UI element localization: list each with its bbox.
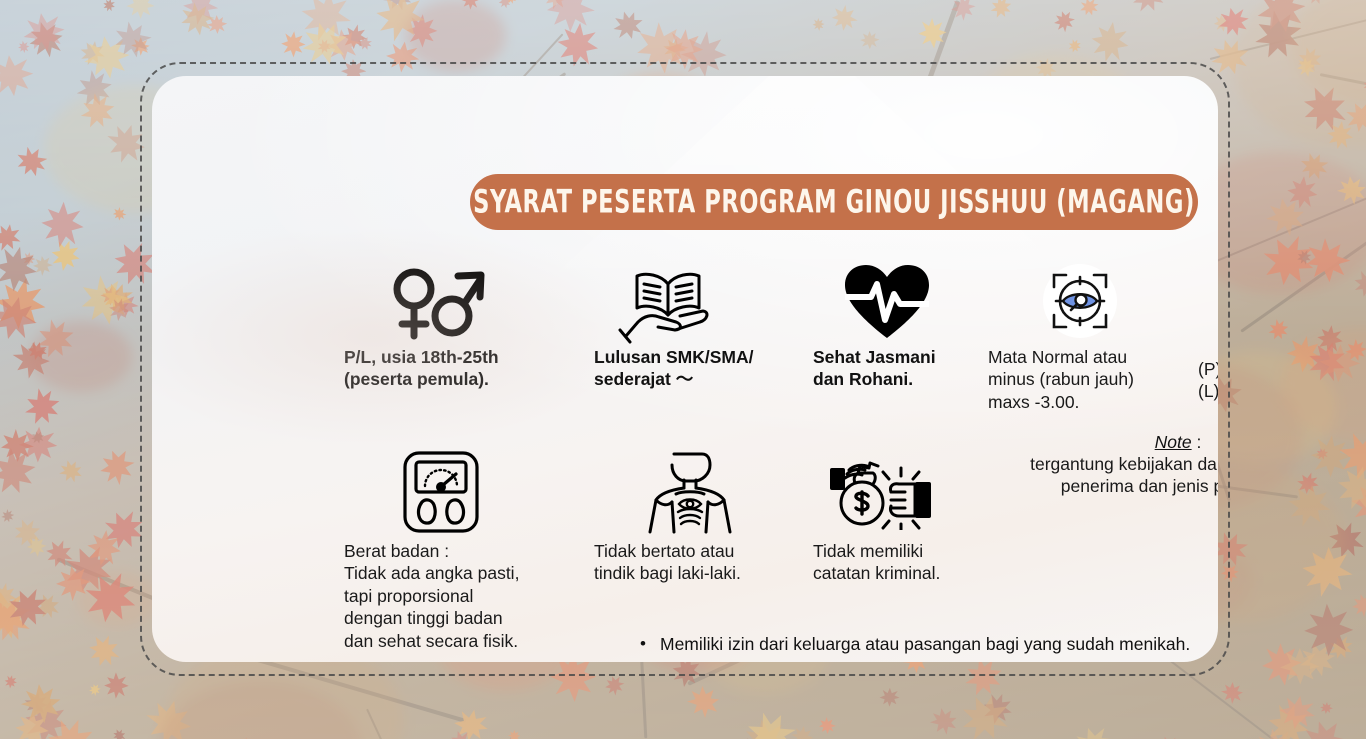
note-separator: :	[1192, 432, 1202, 452]
list-item: • Motivasi & kesiapan: Memiliki kemauan …	[638, 659, 1218, 662]
requirement-gender-line-2: (peserta pemula).	[344, 368, 574, 390]
requirement-criminal-line-2: catatan kriminal.	[813, 562, 1003, 584]
note-line-2: penerima dan jenis pekerjaan.	[987, 475, 1218, 497]
requirement-tattoo: Tidak bertato atau tindik bagi laki-laki…	[594, 450, 809, 585]
requirement-height-text: (P) 155cm〜 (L) 160cm 〜	[1198, 358, 1218, 403]
book-in-hand-icon	[594, 264, 809, 346]
requirement-eyesight: Mata Normal atau minus (rabun jauh) maxs…	[988, 264, 1183, 413]
requirement-weight-line-5: dan sehat secara fisik.	[344, 630, 569, 652]
requirement-tattoo-line-1: Tidak bertato atau	[594, 540, 809, 562]
eye-focus-icon	[1043, 264, 1117, 338]
note-block: Note : tergantung kebijakan dari Perusah…	[987, 432, 1218, 498]
requirement-height-line-2: (L) 160cm 〜	[1198, 380, 1218, 402]
requirement-education: Lulusan SMK/SMA/ sederajat 〜	[594, 264, 809, 391]
requirement-weight-line-2: Tidak ada angka pasti,	[344, 562, 569, 584]
list-item: • Memiliki izin dari keluarga atau pasan…	[638, 632, 1218, 657]
note-label: Note	[1155, 432, 1192, 452]
requirement-eyesight-line-3: maxs -3.00.	[988, 391, 1183, 413]
bullet-text-2: Motivasi & kesiapan: Memiliki kemauan be…	[660, 659, 1218, 662]
requirement-criminal-record: Tidak memiliki catatan kriminal.	[813, 450, 1003, 585]
requirement-health-line-1: Sehat Jasmani	[813, 346, 988, 368]
title-banner: SYARAT PESERTA PROGRAM GINOU JISSHUU (MA…	[470, 174, 1198, 230]
requirement-tattoo-line-2: tindik bagi laki-laki.	[594, 562, 809, 584]
requirement-weight-line-1: Berat badan :	[344, 540, 569, 562]
gender-symbols-icon	[344, 264, 574, 346]
money-bag-fist-icon	[813, 450, 1003, 540]
requirement-eyesight-line-2: minus (rabun jauh)	[988, 368, 1183, 390]
requirement-education-line-1: Lulusan SMK/SMA/	[594, 346, 809, 368]
additional-requirements-list: • Memiliki izin dari keluarga atau pasan…	[638, 632, 1218, 662]
heart-pulse-icon	[813, 264, 988, 346]
requirement-gender-line-1: P/L, usia 18th-25th	[344, 346, 574, 368]
requirement-height-line-1: (P) 155cm〜	[1198, 358, 1218, 380]
bullet-marker: •	[640, 632, 646, 656]
requirement-weight-line-3: tapi proporsional	[344, 585, 569, 607]
requirement-criminal-line-1: Tidak memiliki	[813, 540, 1003, 562]
bullet-text-1: Memiliki izin dari keluarga atau pasanga…	[660, 634, 1190, 654]
note-line-1: tergantung kebijakan dari Perusahaan	[987, 453, 1218, 475]
requirement-weight: Berat badan : Tidak ada angka pasti, tap…	[344, 450, 569, 652]
requirement-health: Sehat Jasmani dan Rohani.	[813, 264, 988, 391]
page-title: SYARAT PESERTA PROGRAM GINOU JISSHUU (MA…	[473, 184, 1195, 221]
bullet-marker: •	[640, 659, 646, 662]
requirement-gender: P/L, usia 18th-25th (peserta pemula).	[344, 264, 574, 391]
requirement-health-line-2: dan Rohani.	[813, 368, 988, 390]
requirement-eyesight-line-1: Mata Normal atau	[988, 346, 1183, 368]
requirement-education-line-2: sederajat 〜	[594, 368, 809, 390]
note-heading: Note :	[987, 432, 1218, 453]
requirement-weight-line-4: dengan tinggi badan	[344, 607, 569, 629]
content-card: SYARAT PESERTA PROGRAM GINOU JISSHUU (MA…	[152, 76, 1218, 662]
weight-scale-icon	[344, 450, 569, 540]
tattooed-torso-icon	[594, 450, 809, 540]
